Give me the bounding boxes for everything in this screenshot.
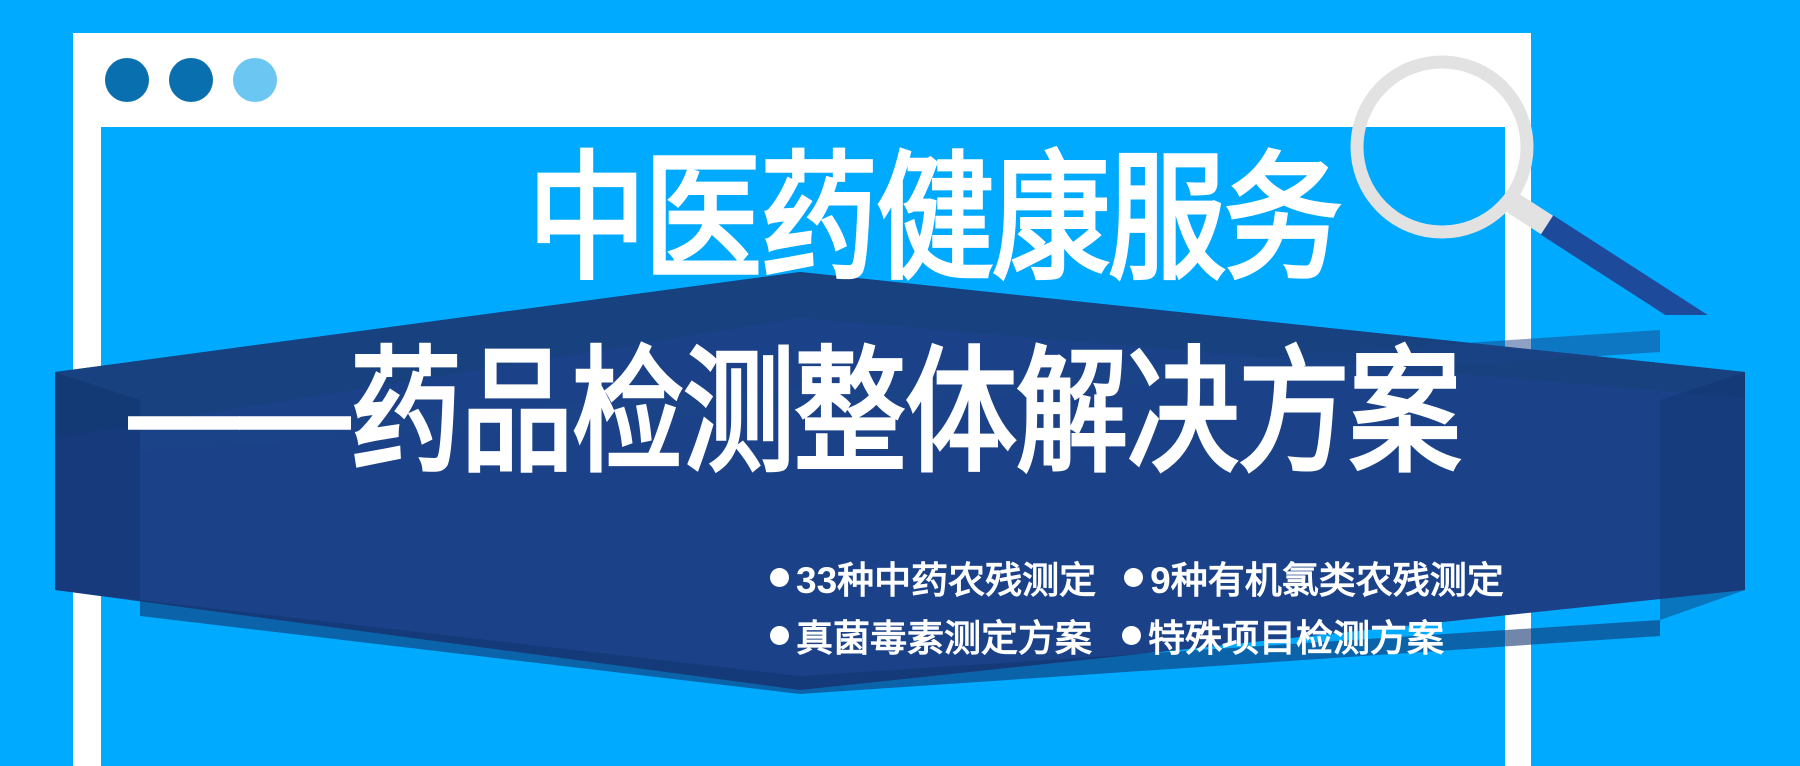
bullet-item-33-herb-pesticide: 33种中药农残测定 xyxy=(770,550,1096,604)
bullet-row: 33种中药农残测定 9种有机氯类农残测定 xyxy=(770,548,1530,606)
bullet-label: 33种中药农残测定 xyxy=(796,550,1096,604)
bullet-label: 真菌毒素测定方案 xyxy=(796,608,1092,662)
bullet-label: 9种有机氯类农残测定 xyxy=(1150,550,1504,604)
bullet-row: 真菌毒素测定方案 特殊项目检测方案 xyxy=(770,606,1530,664)
bullet-item-9-organochlorine: 9种有机氯类农残测定 xyxy=(1124,550,1504,604)
banner-title-line-2: ——药品检测整体解决方案 xyxy=(0,345,1460,482)
banner-text-block: 中医药健康服务 ——药品检测整体解决方案 33种中药农残测定 9种有机氯类农残测… xyxy=(0,0,1800,766)
bullet-dot-icon xyxy=(770,568,789,587)
bullet-dot-icon xyxy=(1122,626,1141,645)
poster-canvas: 中医药健康服务 ——药品检测整体解决方案 33种中药农残测定 9种有机氯类农残测… xyxy=(0,0,1800,766)
bullet-dot-icon xyxy=(770,626,789,645)
bullet-item-mycotoxin: 真菌毒素测定方案 xyxy=(770,608,1092,662)
bullet-item-special-project: 特殊项目检测方案 xyxy=(1122,608,1444,662)
feature-bullet-list: 33种中药农残测定 9种有机氯类农残测定 真菌毒素测定方案 特殊项目检测方案 xyxy=(770,548,1530,664)
bullet-label: 特殊项目检测方案 xyxy=(1148,608,1444,662)
bullet-dot-icon xyxy=(1124,568,1143,587)
banner-title-line-1: 中医药健康服务 xyxy=(0,150,1340,289)
